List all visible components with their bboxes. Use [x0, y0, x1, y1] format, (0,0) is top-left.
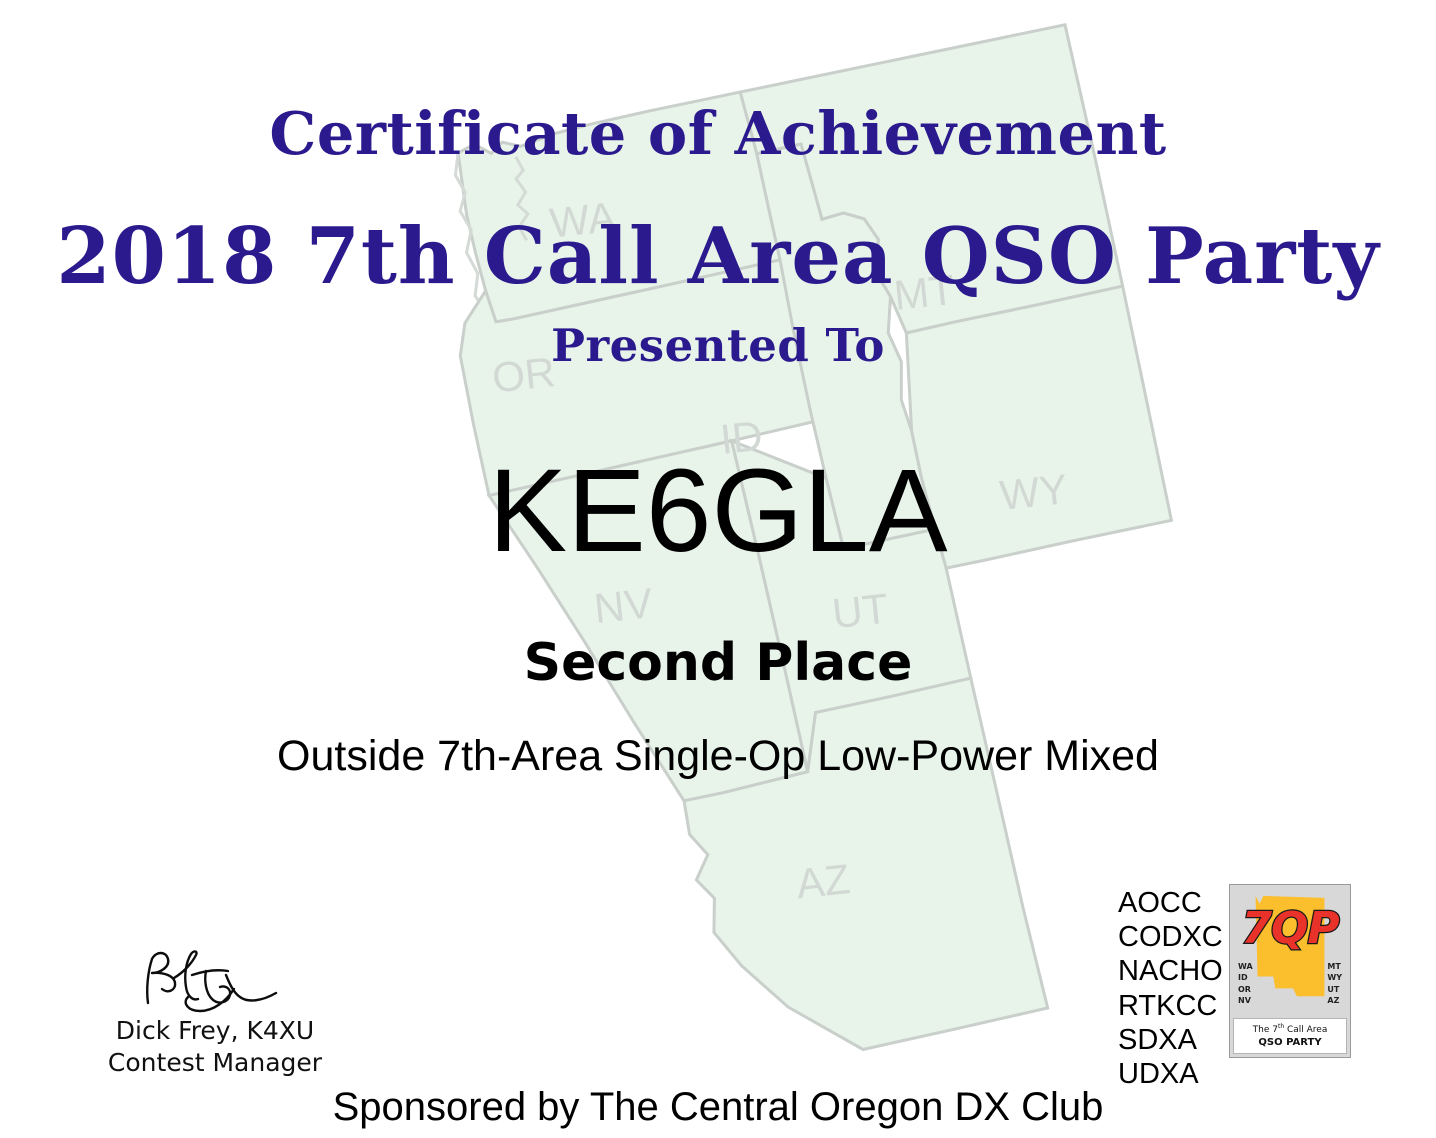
logo-state-code: MT [1327, 961, 1342, 972]
sponsor-footer: Sponsored by The Central Oregon DX Club [0, 1085, 1436, 1130]
certificate-page: WA OR MT ID WY NV UT AZ Certificate of A… [0, 0, 1436, 1138]
signer-name: Dick Frey, K4XU [70, 1015, 360, 1047]
club-item: SDXA [1118, 1023, 1223, 1057]
seven-qp-logo-badge: 7QP WA ID OR NV MT WY UT AZ The 7th Call… [1229, 884, 1351, 1058]
logo-footer-line2: QSO PARTY [1258, 1036, 1321, 1050]
logo-state-code: OR [1238, 984, 1253, 995]
logo-footer-pre: The 7 [1253, 1025, 1278, 1035]
logo-state-code: NV [1238, 995, 1253, 1006]
logo-map-area: 7QP WA ID OR NV MT WY UT AZ [1230, 885, 1350, 1015]
presented-to-label: Presented To [0, 323, 1436, 368]
club-item: CODXC [1118, 920, 1223, 954]
club-item: RTKCC [1118, 989, 1223, 1023]
map-label-nv: NV [592, 579, 655, 632]
logo-footer-post: Call Area [1284, 1025, 1327, 1035]
signature-block: Dick Frey, K4XU Contest Manager [70, 945, 360, 1079]
logo-state-code: ID [1238, 972, 1253, 983]
logo-wordmark: 7QP [1230, 907, 1350, 951]
award-category: Outside 7th-Area Single-Op Low-Power Mix… [0, 735, 1436, 778]
event-title: 2018 7th Call Area QSO Party [0, 218, 1436, 296]
certificate-heading: Certificate of Achievement [0, 104, 1436, 163]
logo-states-left: WA ID OR NV [1238, 961, 1253, 1006]
handwritten-signature-icon [130, 945, 300, 1015]
logo-state-code: UT [1327, 984, 1342, 995]
logo-footer: The 7th Call Area QSO PARTY [1233, 1018, 1347, 1054]
logo-footer-line1: The 7th Call Area [1253, 1023, 1328, 1036]
signer-title: Contest Manager [70, 1047, 360, 1079]
logo-states-right: MT WY UT AZ [1327, 961, 1342, 1006]
recipient-callsign: KE6GLA [0, 452, 1436, 570]
logo-state-code: AZ [1327, 995, 1342, 1006]
logo-state-code: WA [1238, 961, 1253, 972]
map-label-ut: UT [830, 585, 891, 638]
sponsor-club-list: AOCC CODXC NACHO RTKCC SDXA UDXA [1118, 886, 1223, 1091]
logo-state-code: WY [1327, 972, 1342, 983]
club-item: NACHO [1118, 954, 1223, 988]
club-item: AOCC [1118, 886, 1223, 920]
map-label-az: AZ [794, 855, 852, 907]
award-place: Second Place [0, 637, 1436, 689]
